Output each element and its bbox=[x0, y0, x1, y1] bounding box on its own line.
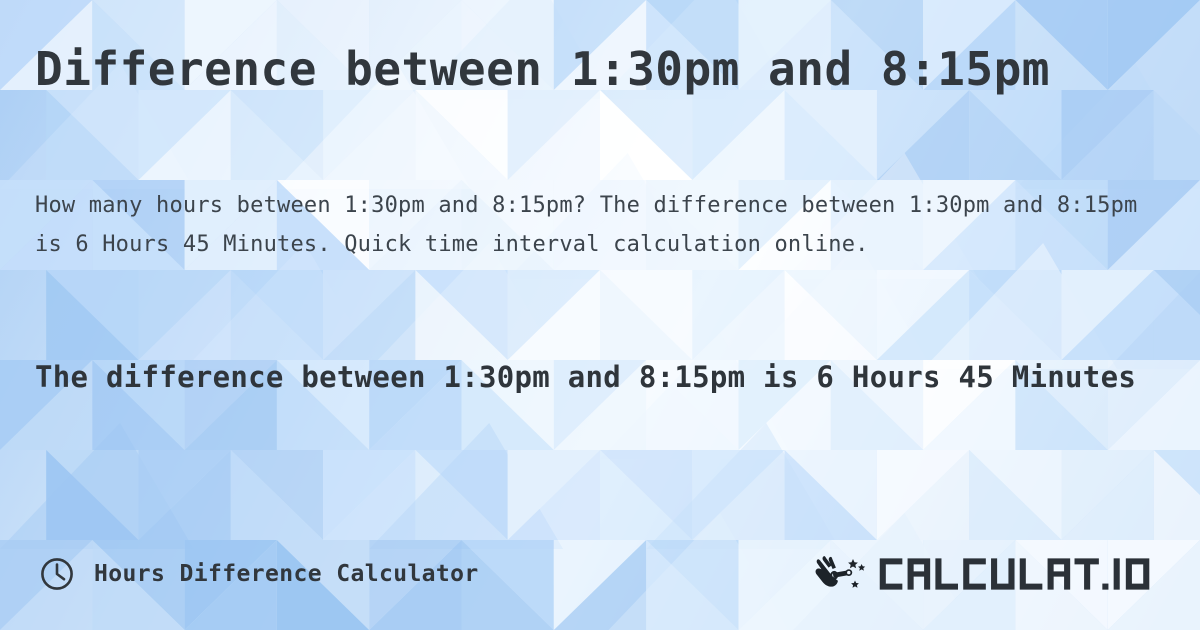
brand-wordmark bbox=[878, 553, 1165, 595]
magic-wand-hand-icon bbox=[811, 553, 869, 595]
clock-icon bbox=[40, 557, 74, 591]
footer-brand-left: Hours Difference Calculator bbox=[40, 557, 479, 591]
result-heading: The difference between 1:30pm and 8:15pm… bbox=[35, 355, 1145, 399]
page-title: Difference between 1:30pm and 8:15pm bbox=[35, 44, 1175, 96]
brand-logo bbox=[811, 553, 1165, 595]
brand-wordmark-glyphs bbox=[878, 554, 1165, 594]
page-container: Difference between 1:30pm and 8:15pm How… bbox=[0, 0, 1200, 630]
footer-label: Hours Difference Calculator bbox=[94, 561, 479, 587]
page-description: How many hours between 1:30pm and 8:15pm… bbox=[35, 186, 1165, 264]
footer: Hours Difference Calculator bbox=[0, 546, 1200, 602]
